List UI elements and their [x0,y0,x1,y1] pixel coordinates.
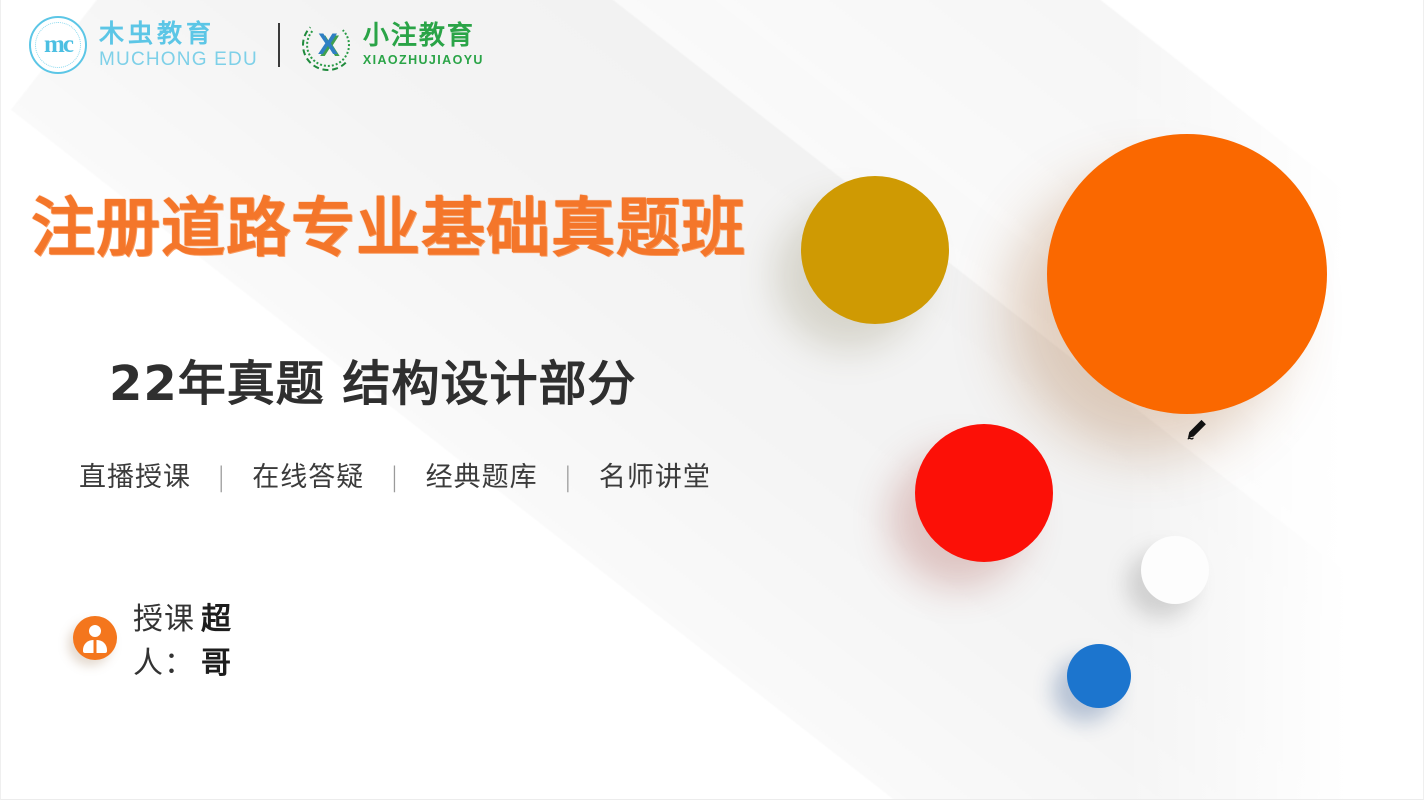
feature-list: 直播授课 | 在线答疑 | 经典题库 | 名师讲堂 [79,455,711,494]
person-icon-head [89,625,101,637]
gold-circle [801,176,949,324]
muchong-name-cn: 木虫教育 [99,21,258,46]
instructor-row: 授课人： 超哥 [73,594,231,682]
muchong-monogram: mc [31,18,85,72]
instructor-name: 超哥 [201,594,231,682]
logo-xiaozhu: X 小注教育 XIAOZHUJIAOYU [302,19,484,71]
pen-cursor [1183,418,1209,444]
xiaozhu-name-cn: 小注教育 [363,23,484,49]
person-icon [73,616,117,660]
instructor-label: 授课人： [133,594,195,682]
logo-muchong: mc 木虫教育 MUCHONG EDU [29,16,258,74]
feature-separator-2: | [563,462,573,493]
feature-item-2: 经典题库 [426,462,538,493]
page-title: 注册道路专业基础真题班 [31,196,746,263]
blue-circle [1067,644,1131,708]
white-circle [1141,536,1209,604]
muchong-badge-icon: mc [29,16,87,74]
feature-separator-0: | [217,462,227,493]
xiaozhu-name-en: XIAOZHUJIAOYU [363,54,484,67]
brand-divider [278,23,280,67]
page-subtitle: 22年真题 结构设计部分 [109,344,637,414]
muchong-wordmark: 木虫教育 MUCHONG EDU [99,21,258,69]
xiaozhu-wordmark: 小注教育 XIAOZHUJIAOYU [363,23,484,67]
orange-circle [1047,134,1327,414]
person-icon-body [83,640,107,653]
slide-canvas: mc 木虫教育 MUCHONG EDU X 小注教育 XIAOZHUJIAOYU… [0,0,1424,800]
feature-item-0: 直播授课 [79,462,191,493]
xiaozhu-monogram: X [302,19,354,71]
laurel-wreath-icon: X [302,19,354,71]
feature-item-1: 在线答疑 [252,462,364,493]
feature-item-3: 名师讲堂 [599,462,711,493]
red-circle [915,424,1053,562]
muchong-name-en: MUCHONG EDU [99,50,258,69]
feature-separator-1: | [390,462,400,493]
brand-header: mc 木虫教育 MUCHONG EDU X 小注教育 XIAOZHUJIAOYU [29,16,484,74]
